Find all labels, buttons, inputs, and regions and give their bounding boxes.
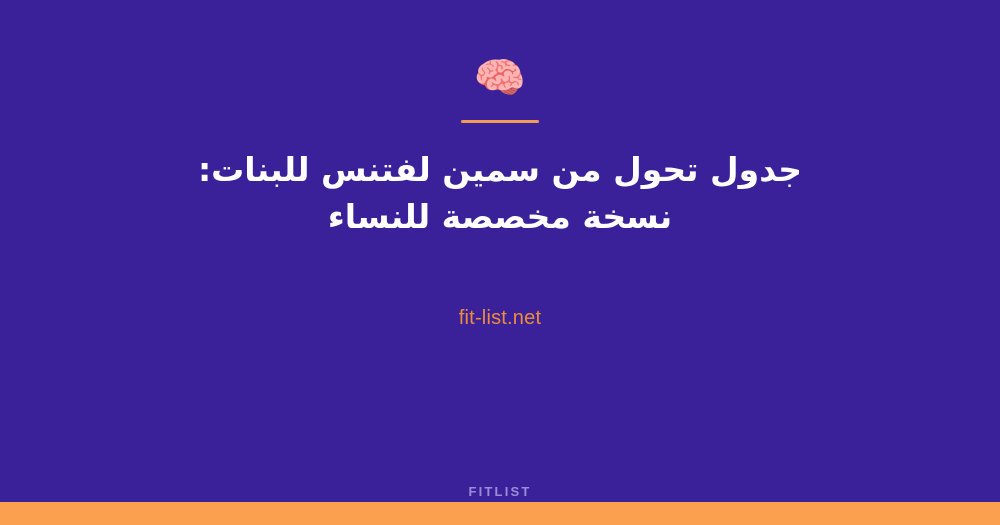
- page-title-line-1: جدول تحول من سمين لفتنس للبنات:: [120, 147, 880, 194]
- page-title: جدول تحول من سمين لفتنس للبنات: نسخة مخص…: [120, 147, 880, 241]
- social-share-card: 🧠 جدول تحول من سمين لفتنس للبنات: نسخة م…: [0, 0, 1000, 525]
- brand-wordmark: FITLIST: [468, 484, 531, 499]
- site-url-link[interactable]: fit-list.net: [459, 307, 541, 330]
- bottom-accent-bar: [0, 502, 1000, 525]
- brain-emoji-icon: 🧠: [474, 57, 526, 99]
- page-title-line-2: نسخة مخصصة للنساء: [120, 194, 880, 241]
- divider-rule: [461, 120, 539, 123]
- brain-emoji-container: 🧠: [474, 52, 526, 104]
